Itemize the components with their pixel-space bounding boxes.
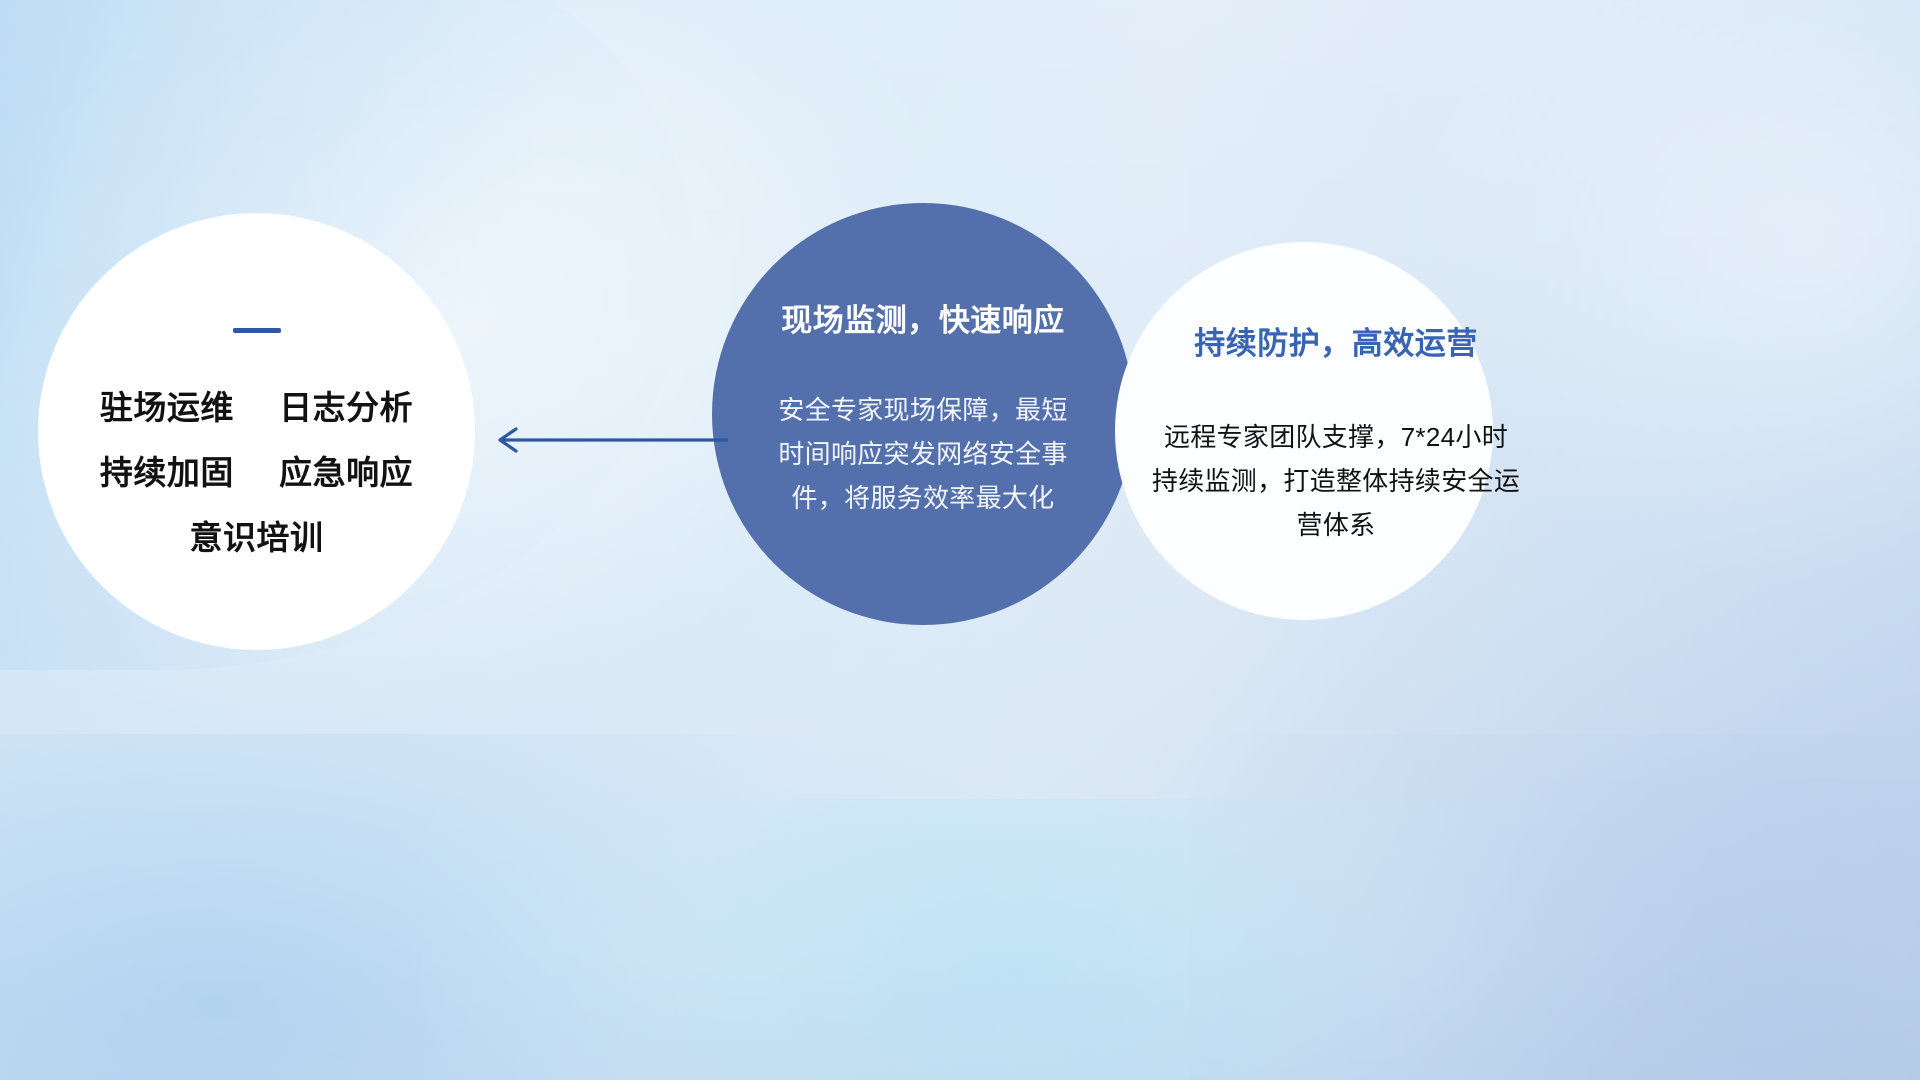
capability-circle: 现场监测，快速响应 安全专家现场保障，最短时间响应突发网络安全事件，将服务效率最… <box>712 203 1134 625</box>
operations-circle-body: 远程专家团队支撑，7*24小时持续监测，打造整体持续安全运营体系 <box>1151 415 1521 547</box>
flow-arrow-left-icon <box>480 418 730 462</box>
outcome-item-label: 驻场运维 <box>100 389 234 426</box>
outcome-item-list: 驻场运维 日志分析 持续加固 应急响应 意识培训 <box>100 375 413 570</box>
outcome-item-label: 意识培训 <box>190 519 324 556</box>
operations-circle-title: 持续防护，高效运营 <box>1194 318 1478 363</box>
capability-circle-body: 安全专家现场保障，最短时间响应突发网络安全事件，将服务效率最大化 <box>773 388 1073 520</box>
operations-circle: 持续防护，高效运营 远程专家团队支撑，7*24小时持续监测，打造整体持续安全运营… <box>1115 242 1493 620</box>
outcome-item-label: 应急响应 <box>279 454 413 491</box>
list-item: 意识培训 <box>100 505 413 570</box>
list-item: 驻场运维 日志分析 <box>100 375 413 440</box>
list-item: 持续加固 应急响应 <box>100 440 413 505</box>
divider-dash-icon <box>233 328 281 333</box>
outcome-item-label: 日志分析 <box>279 389 413 426</box>
outcome-circle: 驻场运维 日志分析 持续加固 应急响应 意识培训 <box>38 213 475 650</box>
outcome-item-label: 持续加固 <box>100 454 234 491</box>
capability-circle-title: 现场监测，快速响应 <box>781 295 1065 340</box>
